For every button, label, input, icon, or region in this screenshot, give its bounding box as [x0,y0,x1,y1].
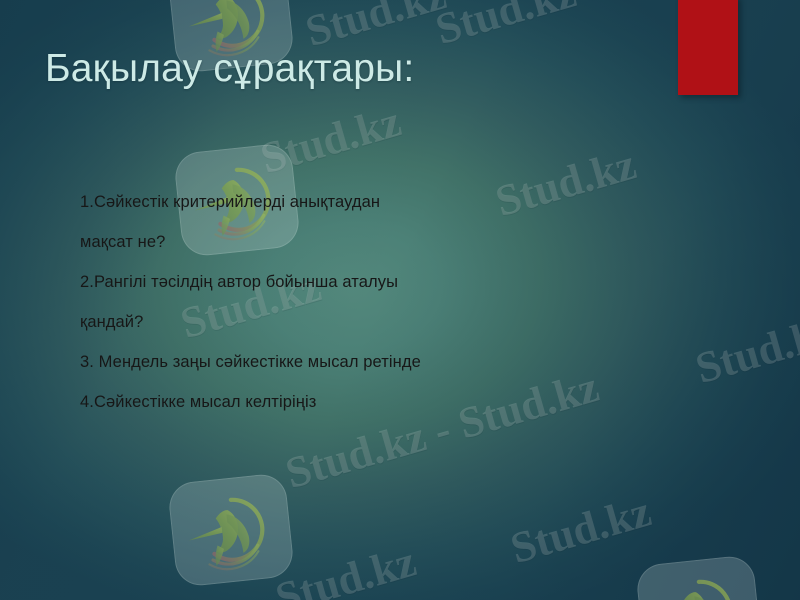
body-line: 4.Сәйкестікке мысал келтіріңіз [80,382,680,422]
body-line: қандай? [80,302,680,342]
body-line: 3. Мендель заңы сәйкестікке мысал ретінд… [80,342,680,382]
presentation-slide: Stud.kzStud.kz - Stud.kzStud.kzStud.kzSt… [0,0,800,600]
slide-body-text: 1.Сәйкестік критерийлерді анықтауданмақс… [80,182,680,422]
body-line: мақсат не? [80,222,680,262]
red-accent-block [678,0,738,95]
body-line: 1.Сәйкестік критерийлерді анықтаудан [80,182,680,222]
page-title: Бақылау сұрақтары: [45,46,685,92]
body-line: 2.Рангілі тәсілдің автор бойынша аталуы [80,262,680,302]
